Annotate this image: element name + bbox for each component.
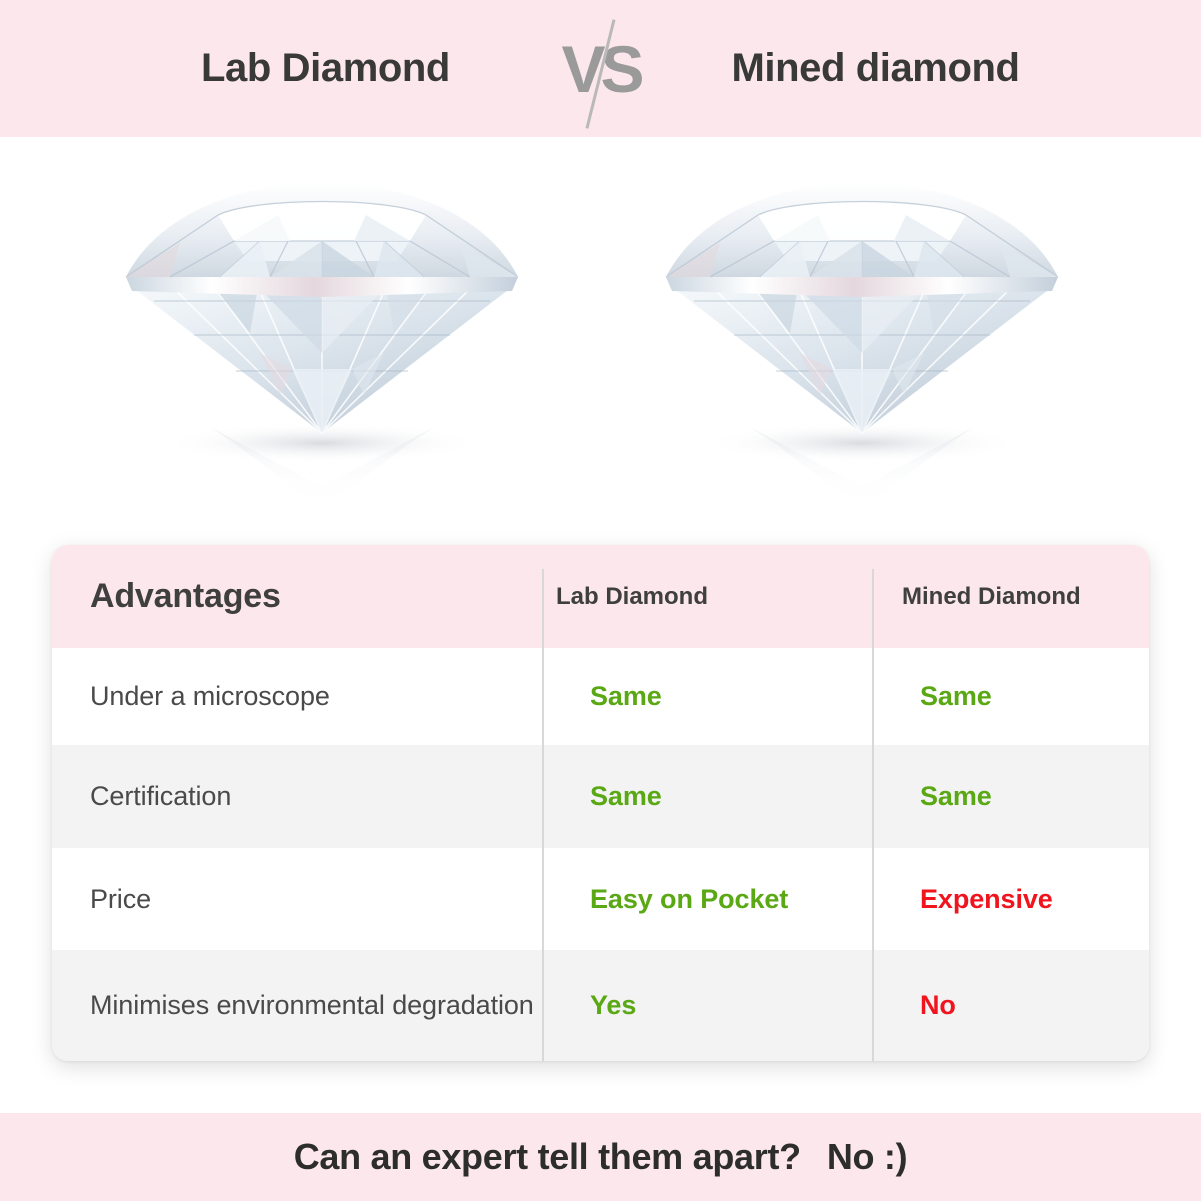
header-left-title: Lab Diamond (111, 46, 541, 91)
table-row: Certification Same Same (52, 745, 1149, 848)
header-cell-lab: Lab Diamond (542, 583, 872, 611)
row-mined-cell: Expensive (872, 884, 1149, 915)
row-lab-cell: Easy on Pocket (542, 884, 872, 915)
row-feature-cell: Certification (52, 777, 542, 815)
row-feature-label: Minimises environmental degradation (90, 990, 534, 1020)
row-lab-value: Yes (590, 990, 636, 1020)
header-cell-mined: Mined Diamond (872, 583, 1149, 611)
diamond-image-area (0, 137, 1201, 545)
diamond-icon (110, 157, 530, 537)
footer-text: Can an expert tell them apart?No :) (294, 1136, 908, 1178)
column-divider-2 (872, 950, 874, 1061)
row-mined-value: Expensive (920, 884, 1053, 914)
comparison-table: Advantages Lab Diamond Mined Diamond Und… (52, 545, 1149, 1061)
column-divider-1 (542, 848, 544, 950)
column-divider-2 (872, 848, 874, 950)
column-divider-2 (872, 745, 874, 848)
footer-question: Can an expert tell them apart? (294, 1136, 801, 1177)
top-banner: Lab Diamond VS Mined diamond (0, 0, 1201, 137)
row-feature-label: Certification (90, 781, 231, 811)
row-mined-cell: No (872, 990, 1149, 1021)
header-lab-label: Lab Diamond (556, 583, 708, 610)
column-divider-2 (872, 569, 874, 648)
mined-diamond-image (650, 157, 1070, 537)
column-divider-2 (872, 648, 874, 745)
row-lab-value: Same (590, 681, 662, 711)
table-row: Under a microscope Same Same (52, 648, 1149, 745)
row-mined-value: Same (920, 681, 992, 711)
row-mined-value: Same (920, 781, 992, 811)
header-feature-label: Advantages (90, 577, 281, 615)
bottom-banner: Can an expert tell them apart?No :) (0, 1113, 1201, 1201)
row-mined-cell: Same (872, 681, 1149, 712)
row-lab-cell: Yes (542, 990, 872, 1021)
table-row: Price Easy on Pocket Expensive (52, 848, 1149, 950)
row-lab-cell: Same (542, 781, 872, 812)
column-divider-1 (542, 569, 544, 648)
row-feature-label: Under a microscope (90, 681, 330, 711)
column-divider-1 (542, 950, 544, 1061)
row-mined-value: No (920, 990, 956, 1020)
diamond-icon (650, 157, 1070, 537)
row-mined-cell: Same (872, 781, 1149, 812)
row-feature-label: Price (90, 884, 151, 914)
lab-diamond-image (110, 157, 530, 537)
footer-answer: No :) (827, 1136, 907, 1177)
column-divider-1 (542, 745, 544, 848)
header-mined-label: Mined Diamond (902, 583, 1081, 610)
row-feature-cell: Minimises environmental degradation (52, 986, 542, 1024)
row-lab-value: Same (590, 781, 662, 811)
table-row: Minimises environmental degradation Yes … (52, 950, 1149, 1061)
column-divider-1 (542, 648, 544, 745)
vs-badge: VS (541, 0, 661, 137)
row-lab-cell: Same (542, 681, 872, 712)
row-feature-cell: Price (52, 880, 542, 918)
header-right-title: Mined diamond (661, 46, 1091, 91)
row-lab-value: Easy on Pocket (590, 884, 788, 914)
table-header-row: Advantages Lab Diamond Mined Diamond (52, 545, 1149, 648)
header-cell-feature: Advantages (52, 577, 542, 616)
row-feature-cell: Under a microscope (52, 677, 542, 715)
